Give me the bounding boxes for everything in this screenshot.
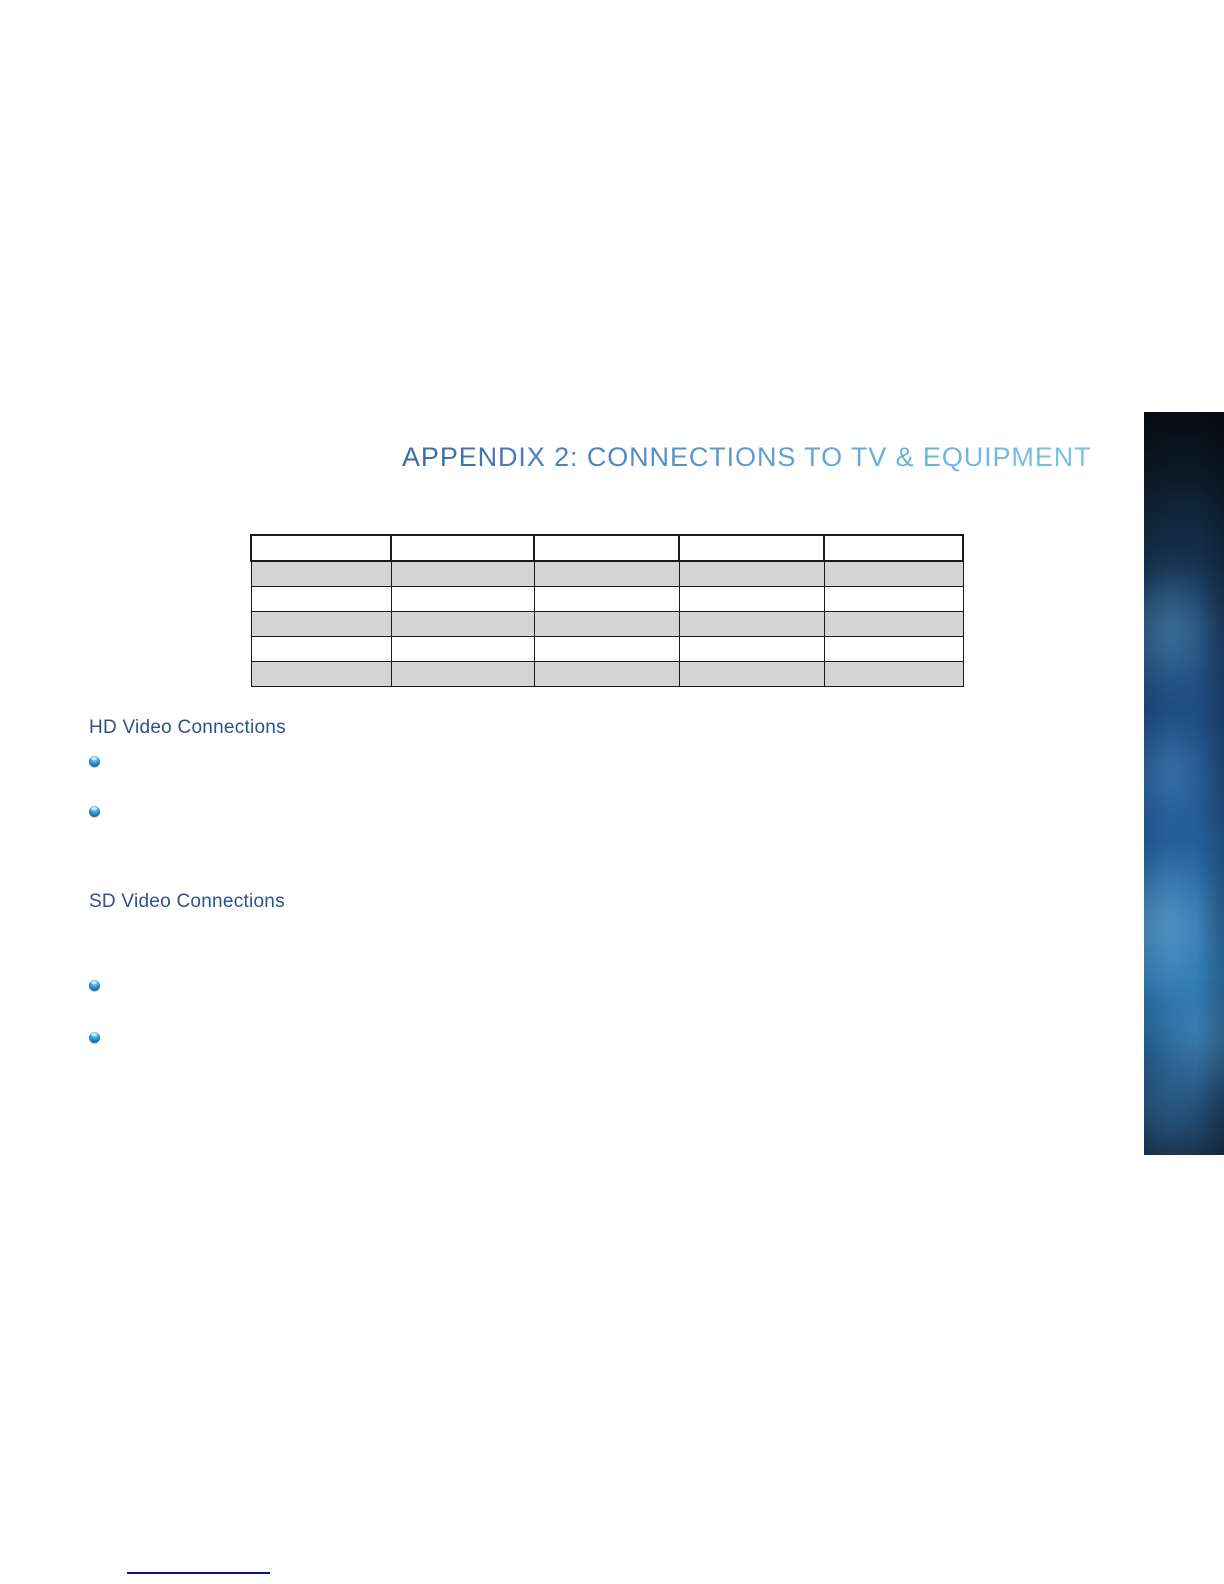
table-cell — [679, 637, 824, 662]
table-header-cell — [251, 535, 391, 561]
connections-table-container — [250, 534, 962, 687]
table-cell — [391, 612, 534, 637]
table-cell — [679, 662, 824, 687]
table-header-cell — [391, 535, 534, 561]
table-cell — [391, 662, 534, 687]
table-header-cell — [534, 535, 679, 561]
sphere-bullet-icon — [89, 1032, 100, 1043]
table-cell — [534, 662, 679, 687]
table-cell — [824, 561, 963, 587]
table-cell — [679, 561, 824, 587]
table-cell — [391, 561, 534, 587]
table-cell — [824, 612, 963, 637]
sphere-bullet-icon — [89, 980, 100, 991]
table-row — [251, 612, 963, 637]
sphere-bullet-icon — [89, 806, 100, 817]
table-cell — [251, 662, 391, 687]
section-heading-sd-video-connections: SD Video Connections — [89, 890, 285, 914]
blue-gradient-photo-strip — [1144, 412, 1224, 1155]
table-header-row — [251, 535, 963, 561]
document-page: APPENDIX 2: CONNECTIONS TO TV & EQUIPMEN… — [0, 0, 1224, 1584]
table-cell — [824, 587, 963, 612]
table-cell — [251, 637, 391, 662]
table-cell — [824, 637, 963, 662]
table-cell — [534, 637, 679, 662]
table-cell — [251, 587, 391, 612]
section-heading-hd-video-connections: HD Video Connections — [89, 716, 286, 740]
table-row — [251, 587, 963, 612]
connections-table — [250, 534, 964, 687]
table-header-cell — [824, 535, 963, 561]
table-cell — [534, 587, 679, 612]
table-row — [251, 662, 963, 687]
page-title: APPENDIX 2: CONNECTIONS TO TV & EQUIPMEN… — [402, 440, 1132, 474]
table-cell — [251, 612, 391, 637]
table-header-cell — [679, 535, 824, 561]
table-cell — [679, 587, 824, 612]
table-cell — [251, 561, 391, 587]
table-cell — [679, 612, 824, 637]
table-cell — [534, 561, 679, 587]
strip-vignette — [1144, 412, 1224, 1155]
table-row — [251, 561, 963, 587]
table-cell — [534, 612, 679, 637]
table-cell — [391, 637, 534, 662]
table-cell — [391, 587, 534, 612]
table-cell — [824, 662, 963, 687]
table-row — [251, 637, 963, 662]
sphere-bullet-icon — [89, 756, 100, 767]
footnote-separator — [127, 1572, 270, 1574]
